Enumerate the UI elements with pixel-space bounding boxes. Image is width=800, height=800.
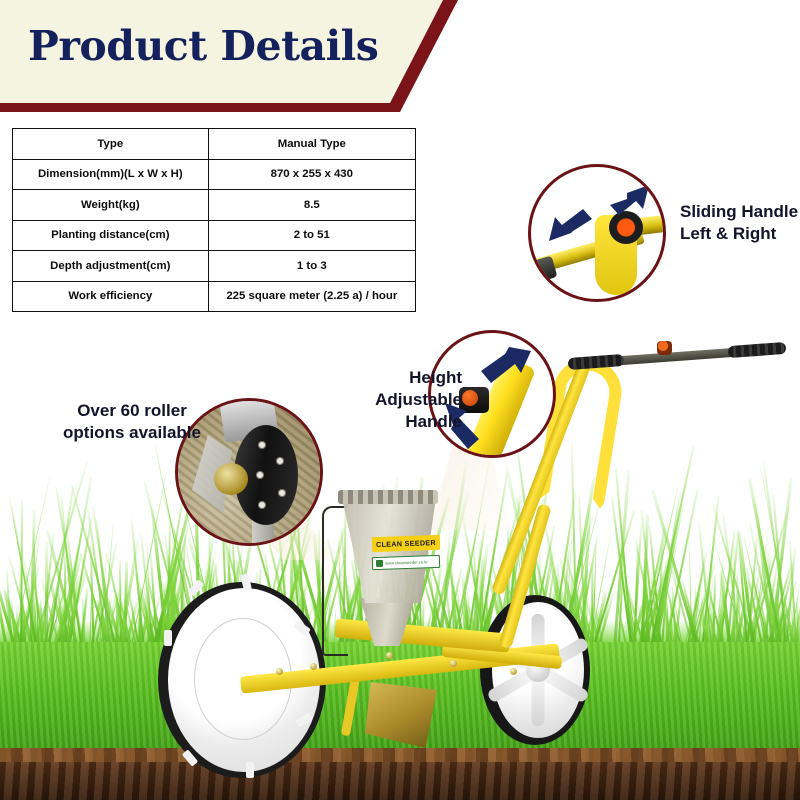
handle-grip-right bbox=[728, 342, 787, 358]
hopper-brand-label: CLEAN SEEDER bbox=[372, 535, 440, 552]
hopper-cap bbox=[338, 490, 438, 504]
furrow-opener-shoe bbox=[365, 682, 437, 748]
handle-grip-left bbox=[568, 354, 625, 370]
sliding-handle-inset-photo bbox=[528, 164, 666, 302]
height-handle-label-line2: Adjustable bbox=[352, 389, 462, 411]
bolt bbox=[386, 652, 393, 659]
sliding-handle-label-line2: Left & Right bbox=[680, 223, 798, 245]
table-row: Dimension(mm)(L x W x H) 870 x 255 x 430 bbox=[13, 159, 416, 190]
hopper-url-text: www.cleanseeder.co.kr bbox=[385, 559, 428, 565]
roller-options-label-line1: Over 60 roller bbox=[52, 400, 212, 422]
roller-hole bbox=[256, 471, 264, 479]
roller-hole bbox=[258, 441, 266, 449]
disc-lug bbox=[246, 762, 254, 778]
table-row: Type Manual Type bbox=[13, 129, 416, 160]
spec-value: 225 square meter (2.25 a) / hour bbox=[208, 281, 415, 312]
height-handle-label: Height Adjustable Handle bbox=[352, 367, 462, 433]
opener-arm bbox=[341, 676, 360, 737]
table-row: Depth adjustment(cm) 1 to 3 bbox=[13, 251, 416, 282]
hopper-url-label: www.cleanseeder.co.kr bbox=[372, 555, 440, 570]
spec-value: 8.5 bbox=[208, 190, 415, 221]
hopper-wire-guard bbox=[322, 506, 348, 656]
spec-value: Manual Type bbox=[208, 129, 415, 160]
roller-hole bbox=[258, 501, 266, 509]
infographic-canvas: CLEAN SEEDER www.cleanseeder.co.kr Produ… bbox=[0, 0, 800, 800]
header-banner: Product Details bbox=[0, 0, 470, 112]
bolt bbox=[310, 663, 317, 670]
spec-key: Dimension(mm)(L x W x H) bbox=[13, 159, 209, 190]
height-handle-label-line1: Height bbox=[352, 367, 462, 389]
sliding-handle-label-line1: Sliding Handle bbox=[680, 201, 798, 223]
spec-key: Work efficiency bbox=[13, 281, 209, 312]
spec-key: Weight(kg) bbox=[13, 190, 209, 221]
roller-hub bbox=[214, 463, 248, 495]
roller-hole bbox=[278, 489, 286, 497]
sliding-handle-label: Sliding Handle Left & Right bbox=[680, 201, 798, 245]
table-row: Work efficiency 225 square meter (2.25 a… bbox=[13, 281, 416, 312]
bolt bbox=[276, 668, 283, 675]
bolt bbox=[450, 660, 457, 667]
bolt bbox=[510, 668, 517, 675]
roller-options-label: Over 60 roller options available bbox=[52, 400, 212, 444]
bidirectional-arrow-icon bbox=[531, 167, 666, 302]
height-handle-label-line3: Handle bbox=[352, 411, 462, 433]
page-title: Product Details bbox=[28, 22, 378, 70]
roller-options-label-line2: options available bbox=[52, 422, 212, 444]
spec-key: Depth adjustment(cm) bbox=[13, 251, 209, 282]
table-row: Weight(kg) 8.5 bbox=[13, 190, 416, 221]
spec-value: 870 x 255 x 430 bbox=[208, 159, 415, 190]
upper-chassis-bar bbox=[335, 618, 511, 652]
hopper-brand-text: CLEAN SEEDER bbox=[376, 538, 436, 549]
roller-hole bbox=[276, 457, 284, 465]
disc-lug bbox=[164, 630, 172, 646]
spec-value: 1 to 3 bbox=[208, 251, 415, 282]
spec-key: Type bbox=[13, 129, 209, 160]
spec-key: Planting distance(cm) bbox=[13, 220, 209, 251]
spec-value: 2 to 51 bbox=[208, 220, 415, 251]
table-row: Planting distance(cm) 2 to 51 bbox=[13, 220, 416, 251]
specification-table: Type Manual Type Dimension(mm)(L x W x H… bbox=[12, 128, 416, 312]
t-handle-knob bbox=[657, 341, 672, 355]
